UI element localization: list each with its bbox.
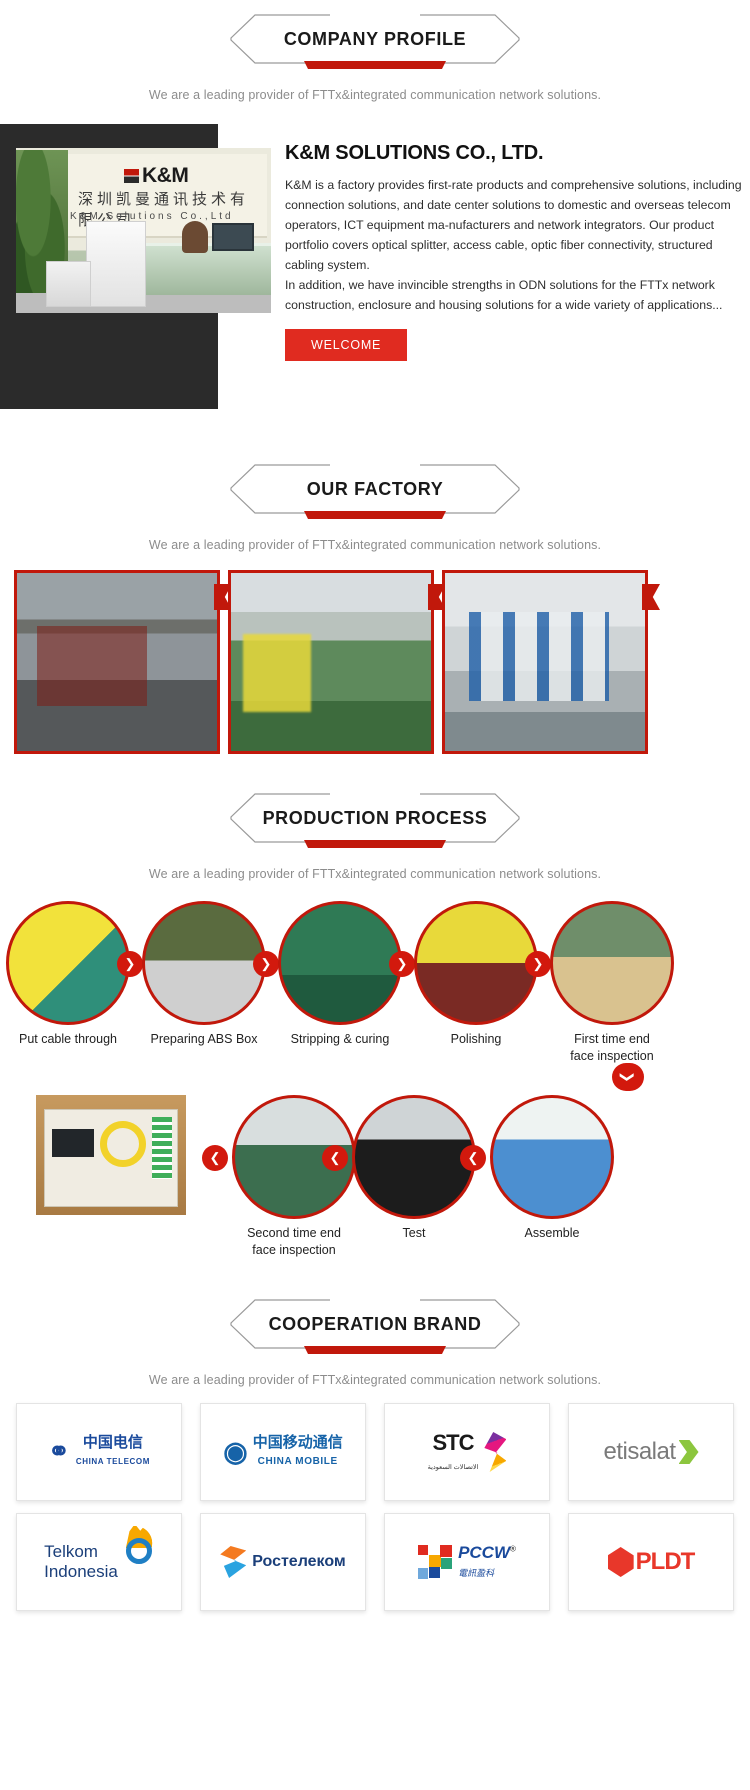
china-telecom-mark-icon: ⚭ <box>48 1438 70 1465</box>
pccw-logo-icon: PCCW® 電訊盈科 <box>418 1543 516 1581</box>
process-step-image-1 <box>6 901 130 1025</box>
china-telecom-logo-icon: ⚭ 中国电信 CHINA TELECOM <box>48 1435 150 1469</box>
km-logo-icon: K&M <box>124 164 188 188</box>
factory-photo-3 <box>442 570 648 754</box>
brand-label-en: CHINA MOBILE <box>258 1456 338 1467</box>
brand-label-rostelecom: Ростелеком <box>252 1553 346 1571</box>
brand-label-cn: 中国移动通信 <box>253 1433 343 1451</box>
process-step-image-3 <box>278 901 402 1025</box>
photo-receptionist <box>182 221 208 253</box>
section-header-production-process: PRODUCTION PROCESS <box>230 793 520 855</box>
photo-cabinet <box>86 221 146 307</box>
chevron-right-icon: ❯ <box>389 951 415 977</box>
section-header-company-profile: COMPANY PROFILE <box>230 14 520 76</box>
section-header-cooperation-brand: COOPERATION BRAND <box>230 1299 520 1361</box>
section-title: COOPERATION BRAND <box>230 1299 520 1349</box>
section-title: OUR FACTORY <box>230 464 520 514</box>
brand-label-cn: 中国电信 <box>83 1433 143 1451</box>
process-step-label-8: Assemble <box>482 1225 622 1242</box>
company-description: K&M is a factory provides first-rate pro… <box>285 175 746 315</box>
welcome-button[interactable]: WELCOME <box>285 329 407 361</box>
section-subtitle-our-factory: We are a leading provider of FTTx&integr… <box>0 538 750 552</box>
photo-cabinet-small <box>46 261 91 307</box>
china-mobile-mark-icon: ◉ <box>223 1437 247 1466</box>
brand-label-en: CHINA TELECOM <box>76 1457 150 1466</box>
process-step-label-1: Put cable through <box>0 1031 138 1048</box>
brand-card-china-mobile[interactable]: ◉ 中国移动通信 CHINA MOBILE <box>200 1403 366 1501</box>
pldt-logo-icon: PLDT <box>608 1547 695 1577</box>
brand-card-etisalat[interactable]: etisalat <box>568 1403 734 1501</box>
section-subtitle-production-process: We are a leading provider of FTTx&integr… <box>0 867 750 881</box>
factory-ribbon-3 <box>642 584 660 610</box>
brand-label-line1: Telkom <box>44 1542 118 1562</box>
process-step-image-7 <box>352 1095 476 1219</box>
brand-label-line2: Indonesia <box>44 1562 118 1582</box>
pccw-mark-icon <box>418 1545 452 1579</box>
brand-card-telkom-indonesia[interactable]: Telkom Indonesia <box>16 1513 182 1611</box>
packaging-box-photo <box>36 1095 186 1215</box>
brand-label-pccw-cn: 電訊盈科 <box>458 1569 494 1579</box>
brand-label-etisalat: etisalat <box>603 1438 675 1466</box>
telkom-ring-icon <box>126 1538 152 1564</box>
brand-card-pccw[interactable]: PCCW® 電訊盈科 <box>384 1513 550 1611</box>
chevron-left-icon: ❮ <box>460 1145 486 1171</box>
chevron-down-icon: ❯ <box>612 1063 644 1091</box>
process-step-image-5 <box>550 901 674 1025</box>
title-underbar <box>300 840 450 848</box>
brand-card-china-telecom[interactable]: ⚭ 中国电信 CHINA TELECOM <box>16 1403 182 1501</box>
registered-icon: ® <box>510 1545 516 1554</box>
process-step-label-7: Test <box>344 1225 484 1242</box>
process-step-label-6: Second time end face inspection <box>224 1225 364 1259</box>
chevron-left-icon: ❮ <box>322 1145 348 1171</box>
etisalat-mark-icon <box>679 1440 699 1464</box>
rostelecom-mark-icon <box>220 1546 246 1578</box>
process-step-image-4 <box>414 901 538 1025</box>
company-profile-text: K&M SOLUTIONS CO., LTD. K&M is a factory… <box>285 142 746 361</box>
factory-photo-2 <box>228 570 434 754</box>
brand-card-stc[interactable]: STC الاتصالات السعودية <box>384 1403 550 1501</box>
brand-label-arabic: الاتصالات السعودية <box>428 1464 479 1471</box>
factory-gallery <box>0 570 750 765</box>
stc-logo-icon: STC الاتصالات السعودية <box>428 1430 507 1474</box>
stc-swoosh-icon <box>482 1432 506 1472</box>
chevron-right-icon: ❯ <box>253 951 279 977</box>
brand-card-rostelecom[interactable]: Ростелеком <box>200 1513 366 1611</box>
office-photo: K&M 深圳凯曼通讯技术有限公司 K&M Solutions Co.,Ltd <box>16 148 271 313</box>
chevron-right-icon: ❯ <box>525 951 551 977</box>
brand-label-stc: STC <box>433 1430 474 1455</box>
section-title: PRODUCTION PROCESS <box>230 793 520 843</box>
section-subtitle-company-profile: We are a leading provider of FTTx&integr… <box>0 88 750 102</box>
section-subtitle-cooperation-brand: We are a leading provider of FTTx&integr… <box>0 1373 750 1387</box>
title-underbar <box>300 1346 450 1354</box>
factory-photo-1 <box>14 570 220 754</box>
production-steps-row-1: Put cable through ❯ Preparing ABS Box ❯ … <box>0 901 750 1069</box>
telkom-logo-icon: Telkom Indonesia <box>44 1542 154 1582</box>
process-step-label-4: Polishing <box>406 1031 546 1048</box>
title-underbar <box>300 61 450 69</box>
chevron-left-icon: ❮ <box>202 1145 228 1171</box>
process-step-image-2 <box>142 901 266 1025</box>
company-profile-block: K&M 深圳凯曼通讯技术有限公司 K&M Solutions Co.,Ltd K… <box>0 124 750 424</box>
chevron-right-icon: ❯ <box>117 951 143 977</box>
process-step-image-8 <box>490 1095 614 1219</box>
etisalat-logo-icon: etisalat <box>603 1438 698 1466</box>
photo-monitor <box>212 223 254 251</box>
section-header-our-factory: OUR FACTORY <box>230 464 520 526</box>
process-step-label-3: Stripping & curing <box>270 1031 410 1048</box>
company-name: K&M SOLUTIONS CO., LTD. <box>285 142 746 165</box>
brand-grid: ⚭ 中国电信 CHINA TELECOM ◉ 中国移动通信 CHINA MOBI… <box>0 1403 750 1631</box>
china-mobile-logo-icon: ◉ 中国移动通信 CHINA MOBILE <box>223 1435 342 1469</box>
brand-label-pldt: PLDT <box>636 1548 695 1576</box>
pldt-mark-icon <box>608 1547 634 1577</box>
process-step-label-5: First time end face inspection <box>542 1031 682 1065</box>
page-title: COMPANY PROFILE <box>230 14 520 64</box>
km-mark-icon <box>124 169 139 183</box>
brand-label-pccw: PCCW <box>458 1543 510 1562</box>
rostelecom-logo-icon: Ростелеком <box>220 1546 346 1578</box>
page-root: COMPANY PROFILE We are a leading provide… <box>0 0 750 1631</box>
process-step-label-2: Preparing ABS Box <box>134 1031 274 1048</box>
production-steps-row-2: ❯ Second time end face inspection ❮ Test… <box>0 1085 750 1285</box>
title-underbar <box>300 511 450 519</box>
brand-card-pldt[interactable]: PLDT <box>568 1513 734 1611</box>
